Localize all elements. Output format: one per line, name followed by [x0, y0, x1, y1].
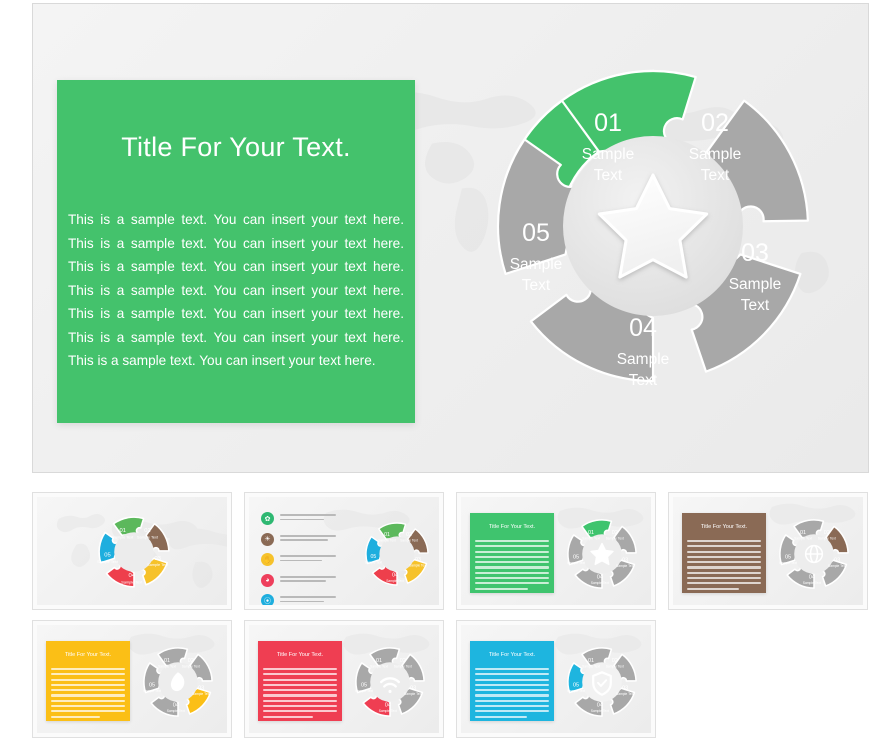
list-item-text — [280, 576, 336, 584]
panel-body-text — [687, 540, 761, 593]
segment-number-05: 05 — [785, 554, 791, 560]
segment-number-02: 02 — [824, 530, 830, 536]
segment-number-04: 04 — [597, 703, 603, 709]
segment-number-04: 04 — [629, 314, 657, 342]
panel-body-text — [475, 540, 549, 593]
segment-label-05: Sample Text — [97, 560, 119, 564]
segment-label-05: Sample Text — [143, 689, 161, 693]
panel-body-text — [51, 668, 125, 721]
list-item-text — [280, 555, 336, 563]
thumbnail-7[interactable]: Title For Your Text. — [456, 620, 656, 738]
panel-title: Title For Your Text. — [475, 524, 549, 530]
text-panel[interactable]: Title For Your Text. — [682, 513, 766, 593]
panel-body-text — [475, 668, 549, 721]
segment-label-01: Sample Text — [794, 536, 812, 540]
segment-number-01: 01 — [384, 532, 390, 538]
segment-label-04: Sample Text — [803, 581, 821, 585]
thumbnail-5[interactable]: Title For Your Text. — [32, 620, 232, 738]
segment-number-02: 02 — [144, 528, 151, 534]
segment-number-01: 01 — [800, 530, 806, 536]
segment-number-05: 05 — [104, 553, 111, 559]
segment-number-03: 03 — [622, 558, 628, 564]
segment-label-01: Sample Text — [582, 664, 600, 668]
segment-label-03: Sample Text — [192, 692, 210, 696]
segment-number-04: 04 — [128, 573, 135, 579]
puzzle-wheel-diagram[interactable]: 01 Sample Text 02 Sample Text 03 Sample … — [770, 507, 858, 601]
segment-number-01: 01 — [119, 528, 126, 534]
segment-label-03-line1: Sample — [729, 276, 782, 293]
panel-title: Title For Your Text. — [687, 524, 761, 530]
segment-label-03: Sample Text — [616, 564, 634, 568]
panel-title: Title For Your Text. — [475, 652, 549, 658]
segment-label-04: Sample Text — [379, 709, 397, 713]
segment-number-04: 04 — [392, 572, 398, 578]
segment-number-03: 03 — [622, 686, 628, 692]
thumbnail-grid: 01 Sample Text 02 Sample Text 03 Sample … — [32, 492, 878, 738]
panel-title: Title For Your Text. — [263, 652, 337, 658]
hand-icon: ✋ — [261, 553, 274, 566]
segment-label-03: Sample Text — [828, 564, 846, 568]
wifi-icon: ◕ — [261, 574, 274, 587]
segment-number-05: 05 — [573, 682, 579, 688]
segment-label-03: Sample Text — [616, 692, 634, 696]
segment-number-02: 02 — [188, 658, 194, 664]
thumbnail-4[interactable]: Title For Your Text. — [668, 492, 868, 610]
segment-label-01: Sample Text — [112, 536, 134, 540]
segment-label-05: Sample Text — [779, 561, 797, 565]
panel-body-text — [263, 668, 337, 721]
segment-label-01: Sample Text — [370, 664, 388, 668]
segment-number-02: 02 — [400, 658, 406, 664]
segment-label-04: Sample Text — [591, 581, 609, 585]
segment-label-02: Sample Text — [818, 536, 836, 540]
segment-label-02: Sample Text — [400, 539, 418, 543]
segment-label-04-line2: Text — [629, 372, 658, 389]
text-panel[interactable]: Title For Your Text. This is a sample te… — [57, 80, 415, 423]
segment-label-02: Sample Text — [137, 536, 159, 540]
segment-label-01-line1: Sample — [582, 146, 635, 163]
segment-number-03: 03 — [154, 556, 161, 562]
segment-label-01: Sample Text — [378, 539, 396, 543]
segment-number-01: 01 — [594, 109, 622, 137]
segment-label-05: Sample Text — [567, 689, 585, 693]
segment-label-03: Sample Text — [147, 563, 169, 567]
puzzle-wheel-diagram[interactable]: 01 Sample Text 02 Sample Text 03 Sample … — [357, 510, 437, 598]
segment-label-03: Sample Text — [409, 563, 427, 567]
segment-label-02: Sample Text — [394, 664, 412, 668]
shield-icon: ⦿ — [261, 594, 274, 605]
slide-preview-page: Title For Your Text. This is a sample te… — [0, 0, 889, 756]
segment-number-05: 05 — [522, 219, 550, 247]
puzzle-wheel-diagram[interactable]: 01 Sample Text 02 Sample Text 03 Sample … — [558, 507, 646, 601]
list-item[interactable]: ◕ — [261, 574, 336, 587]
list-item[interactable]: ☀ — [261, 533, 336, 546]
list-item-text — [280, 514, 336, 522]
panel-title: Title For Your Text. — [51, 652, 125, 658]
segment-number-01: 01 — [164, 658, 170, 664]
segment-number-05: 05 — [573, 554, 579, 560]
leaf-icon: ✿ — [261, 512, 274, 525]
segment-number-03: 03 — [834, 558, 840, 564]
text-panel[interactable]: Title For Your Text. — [470, 513, 554, 593]
segment-number-02: 02 — [612, 530, 618, 536]
segment-label-05-line2: Text — [522, 277, 551, 294]
segment-label-03: Sample Text — [404, 692, 422, 696]
thumbnail-6[interactable]: Title For Your Text. — [244, 620, 444, 738]
main-slide[interactable]: Title For Your Text. This is a sample te… — [32, 3, 869, 473]
panel-title: Title For Your Text. — [57, 132, 415, 163]
segment-label-03-line2: Text — [741, 297, 770, 314]
thumbnail-1[interactable]: 01 Sample Text 02 Sample Text 03 Sample … — [32, 492, 232, 610]
segment-label-01: Sample Text — [582, 536, 600, 540]
text-panel[interactable]: Title For Your Text. — [46, 641, 130, 721]
globe-icon: ☀ — [261, 533, 274, 546]
segment-label-05: Sample Text — [567, 561, 585, 565]
segment-number-03: 03 — [198, 686, 204, 692]
segment-label-04: Sample Text — [386, 579, 404, 583]
segment-number-04: 04 — [809, 575, 815, 581]
text-panel[interactable]: Title For Your Text. — [258, 641, 342, 721]
segment-number-02: 02 — [701, 109, 729, 137]
segment-label-05: Sample Text — [365, 560, 383, 564]
segment-label-01: Sample Text — [158, 664, 176, 668]
segment-label-04: Sample Text — [167, 709, 185, 713]
panel-body-text: This is a sample text. You can insert yo… — [68, 208, 404, 373]
segment-number-05: 05 — [149, 682, 155, 688]
segment-number-04: 04 — [385, 703, 391, 709]
segment-number-01: 01 — [588, 658, 594, 664]
segment-number-01: 01 — [376, 658, 382, 664]
puzzle-wheel-diagram[interactable]: 01 Sample Text 02 Sample Text 03 Sample … — [558, 635, 646, 729]
segment-label-01-line2: Text — [594, 167, 623, 184]
segment-label-05: Sample Text — [355, 689, 373, 693]
segment-label-04: Sample Text — [591, 709, 609, 713]
segment-number-02: 02 — [406, 532, 412, 538]
segment-number-03: 03 — [741, 239, 769, 267]
segment-number-01: 01 — [588, 530, 594, 536]
list-item-text — [280, 596, 336, 604]
thumbnail-2[interactable]: ✿ ☀ ✋ — [244, 492, 444, 610]
puzzle-wheel-diagram[interactable]: 01 Sample Text 02 Sample Text 03 Sample … — [89, 502, 179, 602]
puzzle-wheel-diagram[interactable]: 01 Sample Text 02 Sample Text 03 Sample … — [134, 635, 222, 729]
segment-number-04: 04 — [597, 575, 603, 581]
segment-label-04: Sample Text — [121, 581, 143, 585]
segment-number-05: 05 — [361, 682, 367, 688]
segment-label-02: Sample Text — [606, 536, 624, 540]
segment-label-02-line2: Text — [701, 167, 730, 184]
segment-number-03: 03 — [410, 686, 416, 692]
segment-number-04: 04 — [173, 703, 179, 709]
text-panel[interactable]: Title For Your Text. — [470, 641, 554, 721]
segment-number-05: 05 — [371, 554, 377, 560]
list-item-text — [280, 535, 336, 543]
list-item[interactable]: ⦿ — [261, 594, 336, 605]
puzzle-wheel-diagram[interactable]: 01 Sample Text 02 Sample Text 03 Sample … — [346, 635, 434, 729]
segment-label-05-line1: Sample — [510, 256, 563, 273]
segment-number-02: 02 — [612, 658, 618, 664]
segment-label-02-line1: Sample — [689, 146, 742, 163]
segment-label-04-line1: Sample — [617, 351, 670, 368]
thumbnail-3[interactable]: Title For Your Text. — [456, 492, 656, 610]
list-item[interactable]: ✿ — [261, 512, 336, 525]
segment-label-02: Sample Text — [606, 664, 624, 668]
icon-list: ✿ ☀ ✋ — [261, 512, 336, 605]
segment-label-02: Sample Text — [182, 664, 200, 668]
puzzle-wheel-diagram[interactable]: 01 Sample Text 02 Sample Text 03 Sample … — [453, 26, 853, 426]
segment-number-03: 03 — [415, 557, 421, 563]
list-item[interactable]: ✋ — [261, 553, 336, 566]
